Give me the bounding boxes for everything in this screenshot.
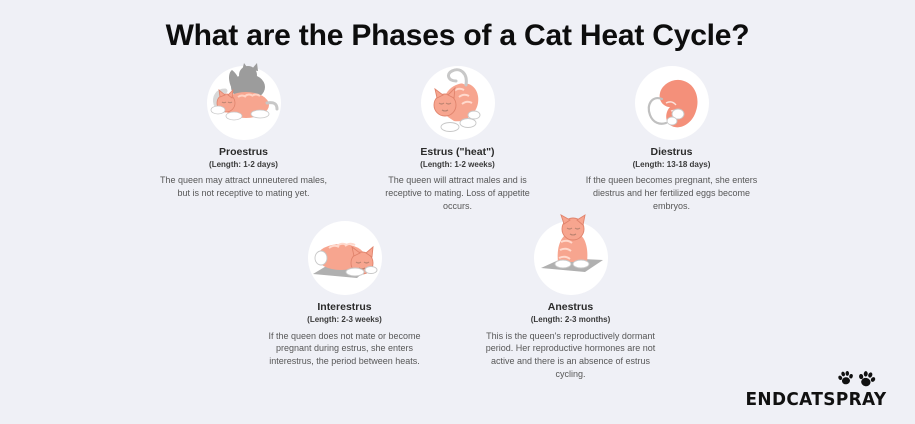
proestrus-illustration	[207, 66, 281, 140]
phase-length: (Length: 1-2 weeks)	[420, 160, 495, 170]
salmon-embryo-icon	[626, 57, 718, 149]
phase-length: (Length: 13-18 days)	[633, 160, 711, 170]
phase-description: The queen may attract unneutered males, …	[156, 174, 331, 200]
phase-length: (Length: 2-3 months)	[531, 315, 611, 325]
salmon-cat-lying-on-mat-icon	[299, 212, 391, 304]
paw-print-icon	[836, 369, 856, 388]
phase-description: This is the queen's reproductively dorma…	[483, 330, 658, 381]
phase-row-top: Proestrus (Length: 1-2 days) The queen m…	[0, 66, 915, 212]
grey-male-cat-and-salmon-queen-icon	[198, 57, 290, 149]
brand-logo: ENDCATSPRAY	[741, 370, 891, 410]
anestrus-illustration	[534, 221, 608, 295]
phase-card-interestrus: Interestrus (Length: 2-3 weeks) If the q…	[256, 221, 434, 380]
phase-description: If the queen becomes pregnant, she enter…	[584, 174, 759, 212]
interestrus-illustration	[308, 221, 382, 295]
logo-text: ENDCATSPRAY	[746, 389, 887, 410]
phase-description: If the queen does not mate or become pre…	[257, 330, 432, 368]
phase-row-bottom: Interestrus (Length: 2-3 weeks) If the q…	[0, 221, 915, 380]
phase-length: (Length: 2-3 weeks)	[307, 315, 382, 325]
estrus-illustration	[421, 66, 495, 140]
salmon-cat-arched-back-icon	[412, 57, 504, 149]
phase-card-diestrus: Diestrus (Length: 13-18 days) If the que…	[583, 66, 761, 212]
phase-card-proestrus: Proestrus (Length: 1-2 days) The queen m…	[155, 66, 333, 212]
diestrus-illustration	[635, 66, 709, 140]
paw-print-group	[837, 370, 876, 388]
phase-description: The queen will attract males and is rece…	[370, 174, 545, 212]
phase-card-anestrus: Anestrus (Length: 2-3 months) This is th…	[482, 221, 660, 380]
paw-print-icon	[855, 368, 877, 390]
salmon-cat-sitting-loaf-icon	[525, 212, 617, 304]
phase-length: (Length: 1-2 days)	[209, 160, 278, 170]
phase-card-estrus: Estrus ("heat") (Length: 1-2 weeks) The …	[369, 66, 547, 212]
page-title: What are the Phases of a Cat Heat Cycle?	[0, 0, 915, 52]
